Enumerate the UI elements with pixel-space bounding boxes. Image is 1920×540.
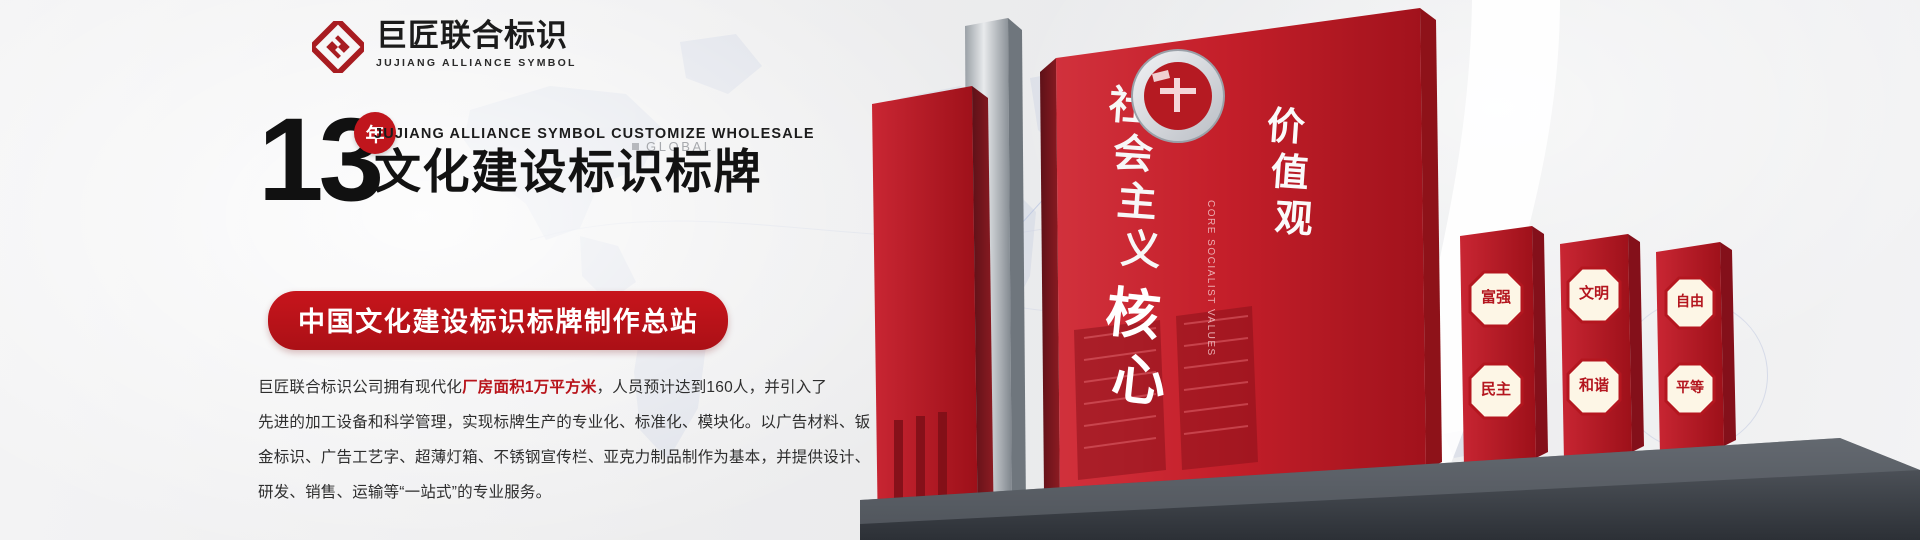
svg-text:价: 价 xyxy=(1265,105,1306,150)
brand-logo-text: 巨匠联合标识 JUJIANG ALLIANCE SYMBOL xyxy=(376,18,577,69)
headline-chinese: 文化建设标识标牌 xyxy=(374,146,815,199)
description-line-1-part-b: ，人员预计达到160人，并引入了 xyxy=(597,379,828,396)
headline-block: 13 年 JUJIANG ALLIANCE SYMBOL CUSTOMIZE W… xyxy=(258,108,1018,228)
headline-text-group: JUJIANG ALLIANCE SYMBOL CUSTOMIZE WHOLES… xyxy=(374,126,815,199)
svg-text:CORE SOCIALIST VALUES: CORE SOCIALIST VALUES xyxy=(1205,200,1216,357)
description-line-2: 先进的加工设备和科学管理，实现标牌生产的专业化、标准化、模块化。以广告材料、钣 xyxy=(258,405,798,440)
jujiang-diamond-logo-icon xyxy=(312,21,364,73)
svg-text:义: 义 xyxy=(1119,227,1162,274)
product-showcase-image: 社 会 主 义 核 心 价 值 观 CORE SOCIALIST VALUES xyxy=(860,0,1920,540)
brand-name-cn: 巨匠联合标识 xyxy=(376,20,577,53)
description-line-3: 金标识、广告工艺字、超薄灯箱、不锈钢宣传栏、亚克力制品制作为基本，并提供设计、 xyxy=(258,440,798,475)
svg-text:平等: 平等 xyxy=(1676,379,1704,396)
description-line-4: 研发、销售、运输等“一站式”的专业服务。 xyxy=(258,475,798,510)
svg-text:会: 会 xyxy=(1111,131,1154,178)
svg-text:和谐: 和谐 xyxy=(1579,376,1609,394)
brand-name-en: JUJIANG ALLIANCE SYMBOL xyxy=(376,57,577,69)
svg-text:值: 值 xyxy=(1269,151,1310,196)
svg-text:文明: 文明 xyxy=(1579,284,1609,302)
svg-text:核: 核 xyxy=(1103,282,1163,347)
headline-english: JUJIANG ALLIANCE SYMBOL CUSTOMIZE WHOLES… xyxy=(374,126,815,142)
svg-text:心: 心 xyxy=(1109,348,1169,413)
company-description: 巨匠联合标识公司拥有现代化厂房面积1万平方米，人员预计达到160人，并引入了 先… xyxy=(258,370,798,510)
description-line-1: 巨匠联合标识公司拥有现代化厂房面积1万平方米，人员预计达到160人，并引入了 xyxy=(258,370,798,405)
svg-text:自由: 自由 xyxy=(1676,293,1704,310)
brand-logo[interactable]: 巨匠联合标识 JUJIANG ALLIANCE SYMBOL xyxy=(312,18,577,73)
svg-text:富强: 富强 xyxy=(1481,288,1511,306)
svg-text:观: 观 xyxy=(1273,197,1314,242)
svg-text:主: 主 xyxy=(1115,179,1158,226)
svg-text:民主: 民主 xyxy=(1481,380,1511,398)
slogan-pill[interactable]: 中国文化建设标识标牌制作总站 xyxy=(268,291,728,350)
promo-banner: GLOBAL DREAM CREATIVE xyxy=(0,0,1920,540)
description-line-1-part-a: 巨匠联合标识公司拥有现代化 xyxy=(258,379,462,396)
description-highlight: 厂房面积1万平方米 xyxy=(462,379,596,396)
